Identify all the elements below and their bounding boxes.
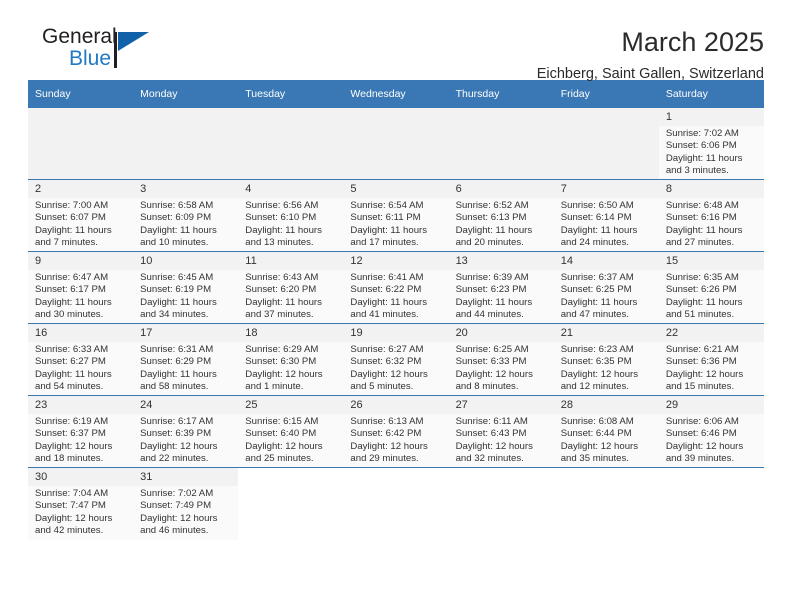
daylight-duration-line1: Daylight: 12 hours [561,369,653,381]
calendar-day-cell[interactable]: 5Sunrise: 6:54 AMSunset: 6:11 PMDaylight… [343,180,448,252]
sunset-time: Sunset: 6:14 PM [561,212,653,224]
sunrise-time: Sunrise: 6:43 AM [245,272,337,284]
day-sun-info: Sunrise: 6:33 AMSunset: 6:27 PMDaylight:… [28,342,133,394]
sunrise-time: Sunrise: 6:50 AM [561,200,653,212]
page-title: March 2025 [537,26,764,58]
sunset-time: Sunset: 6:10 PM [245,212,337,224]
daylight-duration-line2: and 34 minutes. [140,309,232,321]
day-sun-info: Sunrise: 6:13 AMSunset: 6:42 PMDaylight:… [343,414,448,466]
sunset-time: Sunset: 6:26 PM [666,284,758,296]
sunrise-time: Sunrise: 6:54 AM [350,200,442,212]
day-number: 24 [133,396,238,414]
sunrise-time: Sunrise: 6:19 AM [35,416,127,428]
daylight-duration-line2: and 3 minutes. [666,165,758,177]
daylight-duration-line2: and 37 minutes. [245,309,337,321]
day-number: 26 [343,396,448,414]
daylight-duration-line2: and 30 minutes. [35,309,127,321]
day-number: 7 [554,180,659,198]
day-sun-info: Sunrise: 6:39 AMSunset: 6:23 PMDaylight:… [449,270,554,322]
calendar-week-row: 9Sunrise: 6:47 AMSunset: 6:17 PMDaylight… [28,252,764,324]
sunrise-time: Sunrise: 6:56 AM [245,200,337,212]
day-sun-info: Sunrise: 6:31 AMSunset: 6:29 PMDaylight:… [133,342,238,394]
sunrise-time: Sunrise: 7:02 AM [140,488,232,500]
daylight-duration-line1: Daylight: 11 hours [456,225,548,237]
day-number [28,108,133,126]
weekday-header-friday: Friday [554,80,659,108]
daylight-duration-line1: Daylight: 12 hours [350,441,442,453]
daylight-duration-line2: and 29 minutes. [350,453,442,465]
daylight-duration-line1: Daylight: 11 hours [561,297,653,309]
sunset-time: Sunset: 6:44 PM [561,428,653,440]
calendar-day-cell[interactable]: 30Sunrise: 7:04 AMSunset: 7:47 PMDayligh… [28,468,133,540]
calendar-day-cell[interactable]: 12Sunrise: 6:41 AMSunset: 6:22 PMDayligh… [343,252,448,324]
day-number: 25 [238,396,343,414]
day-number: 14 [554,252,659,270]
day-number: 11 [238,252,343,270]
sunset-time: Sunset: 6:42 PM [350,428,442,440]
sunset-time: Sunset: 6:16 PM [666,212,758,224]
daylight-duration-line1: Daylight: 12 hours [245,441,337,453]
day-number: 10 [133,252,238,270]
day-number: 18 [238,324,343,342]
brand-name-general: General [42,25,117,48]
daylight-duration-line1: Daylight: 11 hours [35,297,127,309]
daylight-duration-line2: and 58 minutes. [140,381,232,393]
sunset-time: Sunset: 7:49 PM [140,500,232,512]
sunrise-time: Sunrise: 6:15 AM [245,416,337,428]
day-number: 2 [28,180,133,198]
day-sun-info: Sunrise: 6:50 AMSunset: 6:14 PMDaylight:… [554,198,659,250]
calendar-day-cell[interactable]: 14Sunrise: 6:37 AMSunset: 6:25 PMDayligh… [554,252,659,324]
page-subtitle: Eichberg, Saint Gallen, Switzerland [537,64,764,84]
day-number [238,108,343,126]
sunrise-time: Sunrise: 6:31 AM [140,344,232,356]
daylight-duration-line1: Daylight: 12 hours [456,441,548,453]
sunrise-time: Sunrise: 6:17 AM [140,416,232,428]
brand-name-blue: Blue [69,48,178,70]
sunset-time: Sunset: 6:27 PM [35,356,127,368]
day-sun-info: Sunrise: 6:25 AMSunset: 6:33 PMDaylight:… [449,342,554,394]
calendar-page: General Blue March 2025 Eichberg, Saint … [0,0,792,612]
calendar-day-cell[interactable]: 1Sunrise: 7:02 AMSunset: 6:06 PMDaylight… [659,108,764,180]
daylight-duration-line2: and 18 minutes. [35,453,127,465]
day-number: 5 [343,180,448,198]
calendar-day-cell[interactable]: 15Sunrise: 6:35 AMSunset: 6:26 PMDayligh… [659,252,764,324]
daylight-duration-line2: and 44 minutes. [456,309,548,321]
sunrise-time: Sunrise: 6:39 AM [456,272,548,284]
sunset-time: Sunset: 6:25 PM [561,284,653,296]
day-number: 13 [449,252,554,270]
day-number: 17 [133,324,238,342]
sunrise-time: Sunrise: 6:58 AM [140,200,232,212]
day-sun-info: Sunrise: 6:11 AMSunset: 6:43 PMDaylight:… [449,414,554,466]
day-number: 15 [659,252,764,270]
sunset-time: Sunset: 6:19 PM [140,284,232,296]
day-sun-info: Sunrise: 6:37 AMSunset: 6:25 PMDaylight:… [554,270,659,322]
calendar-cell-empty [238,108,343,180]
calendar-day-cell[interactable]: 18Sunrise: 6:29 AMSunset: 6:30 PMDayligh… [238,324,343,396]
sunrise-time: Sunrise: 6:08 AM [561,416,653,428]
sunrise-time: Sunrise: 7:04 AM [35,488,127,500]
title-block: March 2025 Eichberg, Saint Gallen, Switz… [537,26,764,84]
sunrise-time: Sunrise: 6:47 AM [35,272,127,284]
daylight-duration-line1: Daylight: 12 hours [666,369,758,381]
sunset-time: Sunset: 6:06 PM [666,140,758,152]
daylight-duration-line1: Daylight: 11 hours [456,297,548,309]
sunrise-time: Sunrise: 6:33 AM [35,344,127,356]
sunrise-time: Sunrise: 6:06 AM [666,416,758,428]
daylight-duration-line1: Daylight: 12 hours [561,441,653,453]
sunrise-time: Sunrise: 6:23 AM [561,344,653,356]
calendar-day-cell[interactable]: 4Sunrise: 6:56 AMSunset: 6:10 PMDaylight… [238,180,343,252]
calendar-day-cell[interactable]: 27Sunrise: 6:11 AMSunset: 6:43 PMDayligh… [449,396,554,468]
daylight-duration-line1: Daylight: 11 hours [35,369,127,381]
weekday-header-thursday: Thursday [449,80,554,108]
daylight-duration-line2: and 24 minutes. [561,237,653,249]
calendar-day-cell[interactable]: 7Sunrise: 6:50 AMSunset: 6:14 PMDaylight… [554,180,659,252]
daylight-duration-line2: and 1 minute. [245,381,337,393]
day-number: 29 [659,396,764,414]
calendar-day-cell[interactable]: 11Sunrise: 6:43 AMSunset: 6:20 PMDayligh… [238,252,343,324]
sunrise-time: Sunrise: 6:11 AM [456,416,548,428]
daylight-duration-line2: and 20 minutes. [456,237,548,249]
daylight-duration-line2: and 13 minutes. [245,237,337,249]
daylight-duration-line1: Daylight: 11 hours [561,225,653,237]
calendar-day-cell[interactable]: 28Sunrise: 6:08 AMSunset: 6:44 PMDayligh… [554,396,659,468]
sunset-time: Sunset: 6:13 PM [456,212,548,224]
calendar-week-row: 1Sunrise: 7:02 AMSunset: 6:06 PMDaylight… [28,108,764,180]
daylight-duration-line2: and 54 minutes. [35,381,127,393]
sunrise-time: Sunrise: 6:13 AM [350,416,442,428]
day-number [343,108,448,126]
calendar-cell-blank [659,468,764,540]
day-number: 31 [133,468,238,486]
weekday-header-tuesday: Tuesday [238,80,343,108]
calendar-day-cell[interactable]: 29Sunrise: 6:06 AMSunset: 6:46 PMDayligh… [659,396,764,468]
calendar-day-cell[interactable]: 23Sunrise: 6:19 AMSunset: 6:37 PMDayligh… [28,396,133,468]
calendar-day-cell[interactable]: 20Sunrise: 6:25 AMSunset: 6:33 PMDayligh… [449,324,554,396]
daylight-duration-line2: and 51 minutes. [666,309,758,321]
day-number: 23 [28,396,133,414]
daylight-duration-line2: and 22 minutes. [140,453,232,465]
calendar-cell-blank [238,468,343,540]
daylight-duration-line1: Daylight: 11 hours [350,297,442,309]
daylight-duration-line2: and 47 minutes. [561,309,653,321]
sunset-time: Sunset: 6:32 PM [350,356,442,368]
daylight-duration-line1: Daylight: 11 hours [666,153,758,165]
sunset-time: Sunset: 6:29 PM [140,356,232,368]
day-sun-info: Sunrise: 6:15 AMSunset: 6:40 PMDaylight:… [238,414,343,466]
sunset-time: Sunset: 6:43 PM [456,428,548,440]
day-number: 19 [343,324,448,342]
calendar-day-cell[interactable]: 8Sunrise: 6:48 AMSunset: 6:16 PMDaylight… [659,180,764,252]
sunset-time: Sunset: 6:36 PM [666,356,758,368]
sunset-time: Sunset: 6:39 PM [140,428,232,440]
day-sun-info: Sunrise: 6:52 AMSunset: 6:13 PMDaylight:… [449,198,554,250]
day-number: 21 [554,324,659,342]
daylight-duration-line2: and 39 minutes. [666,453,758,465]
day-number: 28 [554,396,659,414]
calendar-day-cell[interactable]: 17Sunrise: 6:31 AMSunset: 6:29 PMDayligh… [133,324,238,396]
calendar-day-cell[interactable]: 3Sunrise: 6:58 AMSunset: 6:09 PMDaylight… [133,180,238,252]
calendar-day-cell[interactable]: 24Sunrise: 6:17 AMSunset: 6:39 PMDayligh… [133,396,238,468]
calendar-day-cell[interactable]: 2Sunrise: 7:00 AMSunset: 6:07 PMDaylight… [28,180,133,252]
sunrise-time: Sunrise: 6:27 AM [350,344,442,356]
sunrise-time: Sunrise: 6:52 AM [456,200,548,212]
day-sun-info: Sunrise: 6:43 AMSunset: 6:20 PMDaylight:… [238,270,343,322]
daylight-duration-line2: and 46 minutes. [140,525,232,537]
day-sun-info: Sunrise: 6:21 AMSunset: 6:36 PMDaylight:… [659,342,764,394]
daylight-duration-line2: and 7 minutes. [35,237,127,249]
calendar-day-cell[interactable]: 26Sunrise: 6:13 AMSunset: 6:42 PMDayligh… [343,396,448,468]
calendar-day-cell[interactable]: 21Sunrise: 6:23 AMSunset: 6:35 PMDayligh… [554,324,659,396]
brand-divider-bar [114,32,117,68]
daylight-duration-line2: and 42 minutes. [35,525,127,537]
sunset-time: Sunset: 6:35 PM [561,356,653,368]
day-sun-info: Sunrise: 6:23 AMSunset: 6:35 PMDaylight:… [554,342,659,394]
day-sun-info: Sunrise: 6:08 AMSunset: 6:44 PMDaylight:… [554,414,659,466]
daylight-duration-line1: Daylight: 11 hours [140,225,232,237]
daylight-duration-line1: Daylight: 11 hours [140,297,232,309]
day-number: 27 [449,396,554,414]
day-number: 6 [449,180,554,198]
day-number: 30 [28,468,133,486]
calendar-week-row: 30Sunrise: 7:04 AMSunset: 7:47 PMDayligh… [28,468,764,540]
day-sun-info: Sunrise: 7:04 AMSunset: 7:47 PMDaylight:… [28,486,133,538]
sunrise-time: Sunrise: 6:45 AM [140,272,232,284]
day-sun-info: Sunrise: 7:02 AMSunset: 6:06 PMDaylight:… [659,126,764,178]
page-header: General Blue March 2025 Eichberg, Saint … [28,0,764,72]
sunset-time: Sunset: 6:17 PM [35,284,127,296]
sunset-time: Sunset: 6:09 PM [140,212,232,224]
daylight-duration-line2: and 41 minutes. [350,309,442,321]
sunrise-time: Sunrise: 6:25 AM [456,344,548,356]
calendar-week-row: 23Sunrise: 6:19 AMSunset: 6:37 PMDayligh… [28,396,764,468]
calendar-day-cell[interactable]: 31Sunrise: 7:02 AMSunset: 7:49 PMDayligh… [133,468,238,540]
day-number: 20 [449,324,554,342]
day-sun-info: Sunrise: 6:45 AMSunset: 6:19 PMDaylight:… [133,270,238,322]
daylight-duration-line2: and 35 minutes. [561,453,653,465]
day-number: 16 [28,324,133,342]
daylight-duration-line1: Daylight: 12 hours [456,369,548,381]
weekday-header-saturday: Saturday [659,80,764,108]
sunset-time: Sunset: 6:11 PM [350,212,442,224]
daylight-duration-line1: Daylight: 12 hours [35,513,127,525]
calendar-header-row: Sunday Monday Tuesday Wednesday Thursday… [28,80,764,108]
sunset-time: Sunset: 6:33 PM [456,356,548,368]
daylight-duration-line2: and 32 minutes. [456,453,548,465]
daylight-duration-line2: and 17 minutes. [350,237,442,249]
day-number: 8 [659,180,764,198]
calendar-cell-blank [343,468,448,540]
day-sun-info: Sunrise: 6:41 AMSunset: 6:22 PMDaylight:… [343,270,448,322]
day-sun-info: Sunrise: 6:29 AMSunset: 6:30 PMDaylight:… [238,342,343,394]
day-sun-info: Sunrise: 6:58 AMSunset: 6:09 PMDaylight:… [133,198,238,250]
sunrise-time: Sunrise: 6:48 AM [666,200,758,212]
calendar-day-cell[interactable]: 22Sunrise: 6:21 AMSunset: 6:36 PMDayligh… [659,324,764,396]
daylight-duration-line2: and 15 minutes. [666,381,758,393]
sunset-time: Sunset: 6:30 PM [245,356,337,368]
calendar-week-row: 2Sunrise: 7:00 AMSunset: 6:07 PMDaylight… [28,180,764,252]
sunset-time: Sunset: 6:07 PM [35,212,127,224]
sunset-time: Sunset: 6:22 PM [350,284,442,296]
sunset-time: Sunset: 6:46 PM [666,428,758,440]
sunrise-time: Sunrise: 7:02 AM [666,128,758,140]
day-sun-info: Sunrise: 6:47 AMSunset: 6:17 PMDaylight:… [28,270,133,322]
day-number: 12 [343,252,448,270]
weekday-header-wednesday: Wednesday [343,80,448,108]
day-sun-info: Sunrise: 6:27 AMSunset: 6:32 PMDaylight:… [343,342,448,394]
day-number: 4 [238,180,343,198]
day-number: 3 [133,180,238,198]
calendar-day-cell[interactable]: 25Sunrise: 6:15 AMSunset: 6:40 PMDayligh… [238,396,343,468]
daylight-duration-line2: and 8 minutes. [456,381,548,393]
day-sun-info: Sunrise: 6:17 AMSunset: 6:39 PMDaylight:… [133,414,238,466]
sunrise-time: Sunrise: 6:35 AM [666,272,758,284]
sunset-time: Sunset: 6:20 PM [245,284,337,296]
daylight-duration-line1: Daylight: 12 hours [245,369,337,381]
day-sun-info: Sunrise: 7:02 AMSunset: 7:49 PMDaylight:… [133,486,238,538]
day-number: 1 [659,108,764,126]
day-sun-info: Sunrise: 7:00 AMSunset: 6:07 PMDaylight:… [28,198,133,250]
daylight-duration-line2: and 5 minutes. [350,381,442,393]
daylight-duration-line2: and 12 minutes. [561,381,653,393]
sunset-time: Sunset: 6:40 PM [245,428,337,440]
day-number [449,108,554,126]
calendar-table: Sunday Monday Tuesday Wednesday Thursday… [28,80,764,540]
daylight-duration-line1: Daylight: 12 hours [666,441,758,453]
calendar-cell-blank [554,468,659,540]
sunrise-time: Sunrise: 7:00 AM [35,200,127,212]
day-sun-info: Sunrise: 6:48 AMSunset: 6:16 PMDaylight:… [659,198,764,250]
daylight-duration-line1: Daylight: 11 hours [245,225,337,237]
daylight-duration-line2: and 25 minutes. [245,453,337,465]
calendar-day-cell[interactable]: 6Sunrise: 6:52 AMSunset: 6:13 PMDaylight… [449,180,554,252]
brand-logo[interactable]: General Blue [28,26,178,82]
day-number [554,108,659,126]
daylight-duration-line1: Daylight: 11 hours [666,297,758,309]
calendar-cell-empty [133,108,238,180]
day-sun-info: Sunrise: 6:35 AMSunset: 6:26 PMDaylight:… [659,270,764,322]
calendar-cell-blank [449,468,554,540]
day-sun-info: Sunrise: 6:19 AMSunset: 6:37 PMDaylight:… [28,414,133,466]
daylight-duration-line1: Daylight: 11 hours [245,297,337,309]
daylight-duration-line1: Daylight: 12 hours [350,369,442,381]
day-number: 22 [659,324,764,342]
daylight-duration-line2: and 27 minutes. [666,237,758,249]
daylight-duration-line1: Daylight: 12 hours [35,441,127,453]
calendar-day-cell[interactable]: 10Sunrise: 6:45 AMSunset: 6:19 PMDayligh… [133,252,238,324]
calendar-day-cell[interactable]: 16Sunrise: 6:33 AMSunset: 6:27 PMDayligh… [28,324,133,396]
day-number: 9 [28,252,133,270]
sunset-time: Sunset: 6:37 PM [35,428,127,440]
daylight-duration-line1: Daylight: 12 hours [140,513,232,525]
sunrise-time: Sunrise: 6:29 AM [245,344,337,356]
daylight-duration-line2: and 10 minutes. [140,237,232,249]
calendar-week-row: 16Sunrise: 6:33 AMSunset: 6:27 PMDayligh… [28,324,764,396]
weekday-header-sunday: Sunday [28,80,133,108]
calendar-cell-empty [28,108,133,180]
daylight-duration-line1: Daylight: 11 hours [666,225,758,237]
calendar-cell-empty [554,108,659,180]
calendar-day-cell[interactable]: 13Sunrise: 6:39 AMSunset: 6:23 PMDayligh… [449,252,554,324]
day-number [133,108,238,126]
sunrise-time: Sunrise: 6:37 AM [561,272,653,284]
day-sun-info: Sunrise: 6:06 AMSunset: 6:46 PMDaylight:… [659,414,764,466]
sunset-time: Sunset: 7:47 PM [35,500,127,512]
daylight-duration-line1: Daylight: 12 hours [140,441,232,453]
daylight-duration-line1: Daylight: 11 hours [350,225,442,237]
day-sun-info: Sunrise: 6:56 AMSunset: 6:10 PMDaylight:… [238,198,343,250]
sunrise-time: Sunrise: 6:21 AM [666,344,758,356]
blue-triangle-flag-icon [118,32,149,51]
weekday-header-monday: Monday [133,80,238,108]
calendar-cell-empty [343,108,448,180]
daylight-duration-line1: Daylight: 11 hours [140,369,232,381]
calendar-cell-empty [449,108,554,180]
day-sun-info: Sunrise: 6:54 AMSunset: 6:11 PMDaylight:… [343,198,448,250]
calendar-body: 1Sunrise: 7:02 AMSunset: 6:06 PMDaylight… [28,108,764,540]
daylight-duration-line1: Daylight: 11 hours [35,225,127,237]
calendar-day-cell[interactable]: 19Sunrise: 6:27 AMSunset: 6:32 PMDayligh… [343,324,448,396]
calendar-day-cell[interactable]: 9Sunrise: 6:47 AMSunset: 6:17 PMDaylight… [28,252,133,324]
sunrise-time: Sunrise: 6:41 AM [350,272,442,284]
sunset-time: Sunset: 6:23 PM [456,284,548,296]
